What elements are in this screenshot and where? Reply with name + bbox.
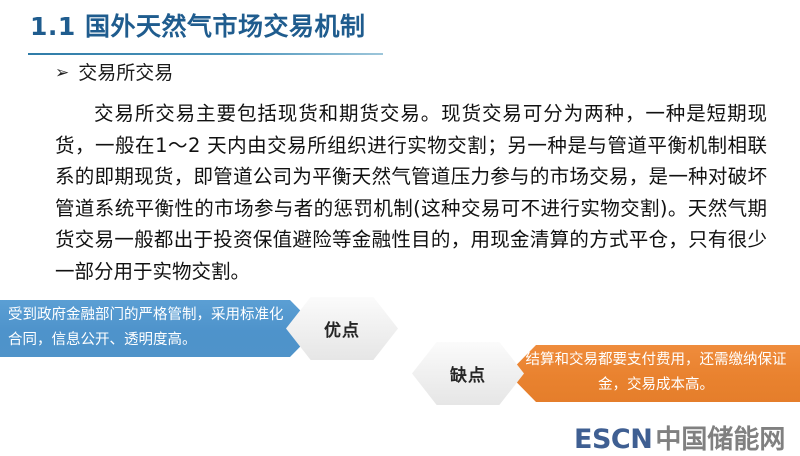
watermark-logo: ESCN 中国储能网 xyxy=(574,419,785,456)
disadvantage-text: 结算和交易都要支付费用，还需缴纳保证金，交易成本高。 xyxy=(520,348,792,398)
section-bullet-label: 交易所交易 xyxy=(78,64,173,83)
disadvantage-hexagon-label: 缺点 xyxy=(450,361,486,386)
slide-title-block: 1.1 国外天然气市场交易机制 xyxy=(0,8,800,56)
title-underline-divider xyxy=(28,53,383,55)
slide-canvas: 1.1 国外天然气市场交易机制 ➢ 交易所交易 交易所交易主要包括现货和期货交易… xyxy=(0,0,800,450)
chevron-right-icon: ➢ xyxy=(55,65,69,82)
section-bullet: ➢ 交易所交易 xyxy=(55,64,173,83)
disadvantage-hexagon-badge: 缺点 xyxy=(412,342,524,405)
body-paragraph: 交易所交易主要包括现货和期货交易。现货交易可分为两种，一种是短期现货，一般在1～… xyxy=(55,98,767,287)
watermark-site-text: 中国储能网 xyxy=(655,419,785,456)
watermark-brand-text: ESCN xyxy=(574,424,652,455)
advantage-hexagon-badge: 优点 xyxy=(286,297,398,360)
advantage-hexagon-label: 优点 xyxy=(324,316,360,341)
page-title: 1.1 国外天然气市场交易机制 xyxy=(30,10,366,44)
advantage-text: 受到政府金融部门的严格管制，采用标准化合同，信息公开、透明度高。 xyxy=(8,303,286,353)
